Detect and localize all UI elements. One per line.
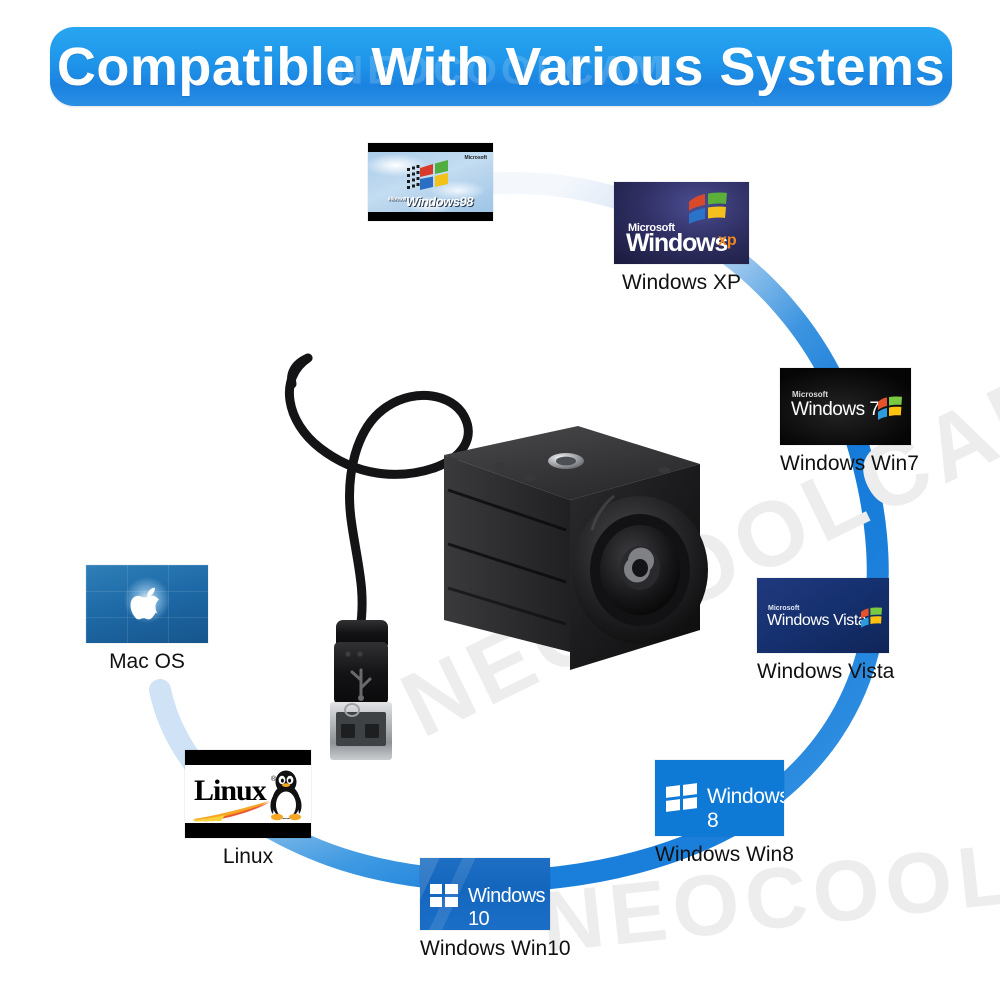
apple-logo-icon [130,587,164,625]
os-node-vista[interactable]: Microsoft Windows Vista Windows Vista [757,578,894,684]
page-title: Compatible With Various Systems [57,40,945,94]
os-node-win10[interactable]: Windows 10 Windows Win10 [420,858,571,961]
windows-aero-flag-icon [876,394,904,420]
windows-tile-flag-icon [430,884,458,908]
linux-wordmark: Linux [194,774,266,808]
os-node-winxp[interactable]: Microsoft Windows xp Windows XP [614,182,749,295]
win10-title: Windows 10 [468,885,550,930]
badge-vista: Microsoft Windows Vista [757,578,889,653]
caption-winxp: Windows XP [614,271,749,295]
win7-title: Windows 7 [791,399,879,421]
badge-win10: Windows 10 [420,858,550,930]
caption-macos: Mac OS [86,650,208,674]
tux-penguin-icon [267,769,305,821]
vista-title: Windows Vista [767,612,866,630]
os-node-win8[interactable]: Windows 8 Windows Win8 [655,760,794,867]
badge-win8: Windows 8 [655,760,784,836]
windows-tile-flag-icon [666,783,697,813]
win8-title: Windows 8 [707,785,784,833]
windows-xp-flag-icon [686,191,730,225]
header-banner: NEOCOOLCAM Compatible With Various Syste… [50,27,952,106]
usb-a-connector [330,620,392,760]
caption-win7: Windows Win7 [780,452,919,476]
vista-brand-label: Microsoft [768,605,800,612]
badge-winxp: Microsoft Windows xp [614,182,749,264]
caption-vista: Windows Vista [757,660,894,684]
linux-bottom-bar [185,823,311,838]
compatibility-infographic: NEOCOOLCAM Compatible With Various Syste… [0,0,1000,1000]
camera-body [444,426,708,670]
linux-top-bar [185,750,311,765]
os-node-macos[interactable]: Mac OS [86,565,208,674]
windows-aero-flag-icon [859,605,884,628]
caption-linux: Linux [185,845,311,869]
winxp-title: Windows [626,229,727,258]
caption-win8: Windows Win8 [655,843,794,867]
usb-cable [289,358,468,630]
win98-title: MicrosoftWindows98 [368,194,493,209]
badge-macos [86,565,208,643]
win7-brand-label: Microsoft [792,390,828,399]
badge-linux: Linux ® [185,750,311,838]
win98-brand-label: Microsoft [465,155,488,161]
badge-win7: Microsoft Windows 7 [780,368,911,445]
os-node-win98[interactable]: Microsoft Microsof [368,143,493,221]
os-node-linux[interactable]: Linux ® Linux [185,750,311,869]
os-node-win7[interactable]: Microsoft Windows 7 Windows Win7 [780,368,919,476]
badge-win98: Microsoft Microsof [368,143,493,221]
windows-classic-flag-icon [406,160,452,194]
product-image-usb-camera [248,330,708,760]
caption-win10: Windows Win10 [420,937,571,961]
winxp-version: xp [718,232,737,250]
